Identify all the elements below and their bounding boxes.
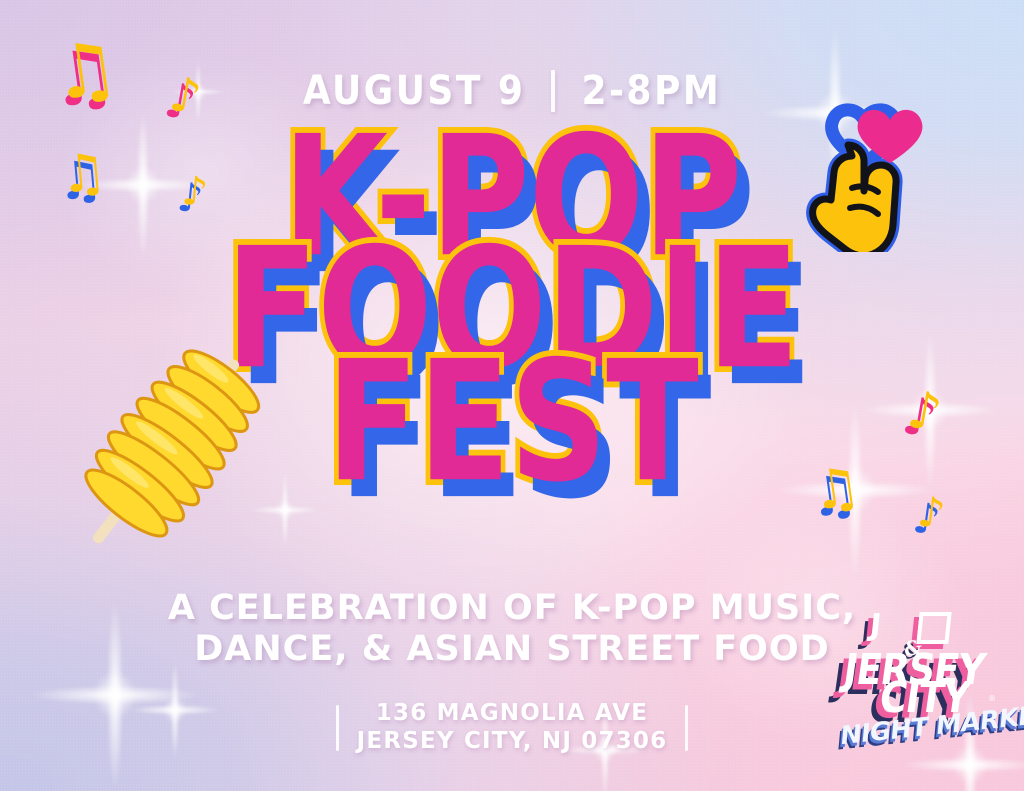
music-note-icon: ♪ bbox=[915, 490, 947, 535]
logo-registered-mark: ® bbox=[988, 694, 996, 703]
jersey-city-night-market-logo: J & JERSEY CITY ® NIGHT MARKET bbox=[832, 606, 1008, 750]
address-line-1: 136 MAGNOLIA AVE bbox=[357, 700, 668, 728]
music-note-icon: ♫ bbox=[808, 459, 863, 519]
music-note-icon: ♫ bbox=[58, 146, 109, 202]
address-divider-right bbox=[685, 705, 688, 751]
music-note-icon: ♪ bbox=[180, 171, 210, 213]
tornado-potato-icon bbox=[72, 342, 264, 564]
address-divider-left bbox=[336, 705, 339, 751]
finger-heart-icon bbox=[806, 84, 924, 252]
address-text: 136 MAGNOLIA AVE JERSEY CITY, NJ 07306 bbox=[357, 700, 668, 755]
logo-square-icon bbox=[916, 612, 951, 644]
address-line-2: JERSEY CITY, NJ 07306 bbox=[357, 728, 668, 756]
logo-monogram: J bbox=[868, 608, 883, 643]
poster-canvas: AUGUST 9 2-8PM K-POP FOODIE FEST A CELEB… bbox=[0, 0, 1024, 791]
music-note-icon: ♫ bbox=[47, 30, 123, 113]
